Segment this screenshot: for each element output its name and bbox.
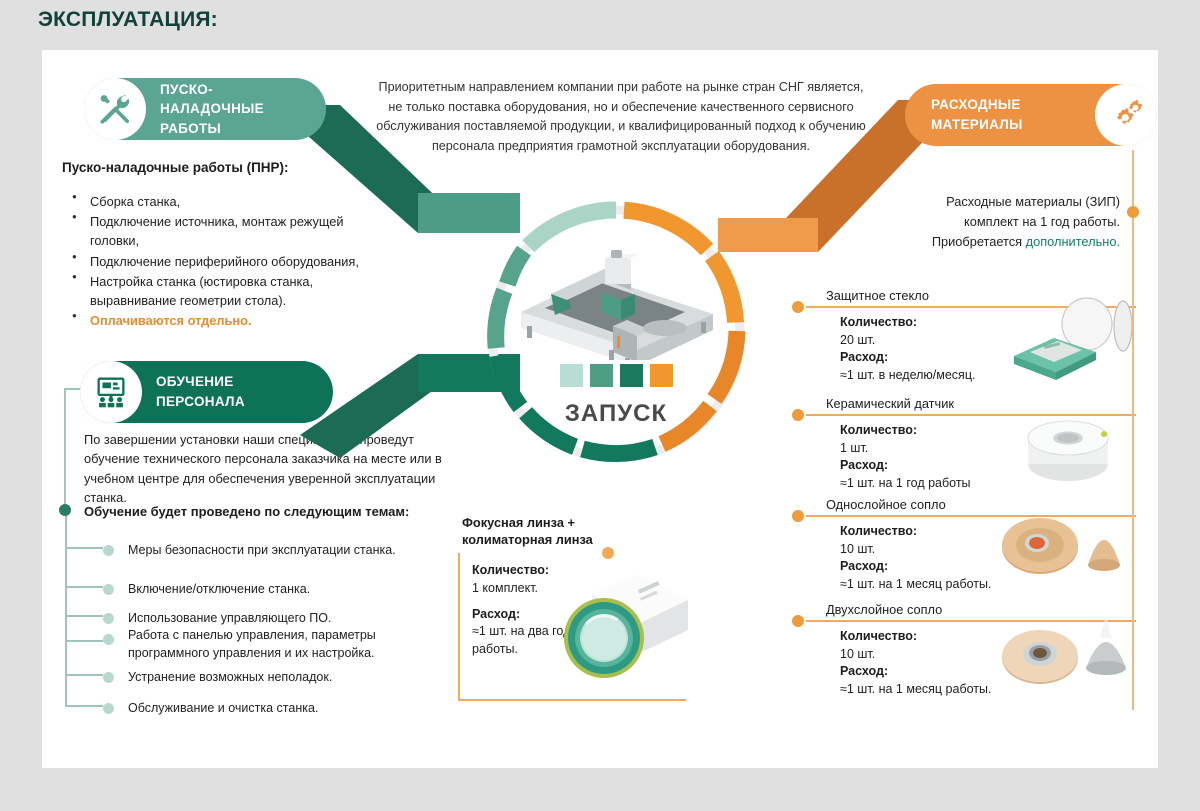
rate-value: ≈1 шт. в неделю/месяц. — [840, 368, 975, 382]
rate-value: ≈1 шт. на 1 месяц работы. — [840, 682, 991, 696]
rate-label: Расход: — [840, 458, 888, 472]
consumables-vertical-dot — [1127, 206, 1139, 218]
qty-value: 20 шт. — [840, 333, 875, 347]
topic-row: Устранение возможных неполадок. — [103, 668, 443, 686]
badge-training-label: ОБУЧЕНИЕ ПЕРСОНАЛА — [142, 372, 333, 411]
topic-label: Устранение возможных неполадок. — [128, 668, 332, 686]
lens-bullet-dot — [602, 547, 614, 559]
qty-value: 1 шт. — [840, 441, 868, 455]
topic-label: Меры безопасности при эксплуатации станк… — [128, 541, 396, 559]
qty-label: Количество: — [840, 524, 917, 538]
training-topics-heading: Обучение будет проведено по следующим те… — [84, 504, 409, 519]
consumables-vertical-line — [1132, 150, 1134, 710]
wrench-screwdriver-icon — [84, 78, 146, 140]
lens-title-line1: Фокусная линза + — [462, 515, 575, 530]
lens-title: Фокусная линза + колиматорная линза — [462, 514, 642, 549]
badge-consumables-label: РАСХОДНЫЕ МАТЕРИАЛЫ — [905, 95, 1095, 134]
qty-value: 10 шт. — [840, 647, 875, 661]
lens-qty-value: 1 комплект. — [472, 581, 538, 595]
consumable-item-double-nozzle: Двухслойное сопло Количество: 10 шт. Рас… — [806, 602, 1136, 698]
topics-branch — [65, 674, 103, 676]
badge-commissioning-label: ПУСКО-НАЛАДОЧНЫЕ РАБОТЫ — [146, 80, 326, 139]
topics-branch — [65, 705, 103, 707]
topic-dot — [103, 703, 114, 714]
lens-qty-label: Количество: — [472, 563, 549, 577]
topic-dot — [103, 672, 114, 683]
lens-rule-bottom — [458, 699, 686, 701]
consumable-bullet-dot — [792, 615, 804, 627]
rate-label: Расход: — [840, 664, 888, 678]
list-item-accent: Оплачиваются отдельно. — [68, 311, 368, 330]
qty-label: Количество: — [840, 423, 917, 437]
lens-title-line2: колиматорная линза — [462, 532, 593, 547]
rate-value: ≈1 шт. на 1 месяц работы. — [840, 577, 991, 591]
topic-label: Работа с панелью управления, параметры п… — [128, 626, 428, 662]
topic-dot — [103, 545, 114, 556]
training-connector-line — [64, 388, 66, 510]
gears-icon — [1095, 84, 1157, 146]
hub-label: ЗАПУСК — [480, 400, 752, 428]
list-item: Настройка станка (юстировка станка, выра… — [68, 272, 368, 310]
topic-label: Обслуживание и очистка станка. — [128, 699, 318, 717]
rate-label: Расход: — [840, 350, 888, 364]
topic-row: Обслуживание и очистка станка. — [103, 699, 443, 717]
topic-label: Использование управляющего ПО. — [128, 609, 332, 627]
topics-branch — [65, 547, 103, 549]
topic-dot — [103, 584, 114, 595]
lens-rate-label: Расход: — [472, 607, 520, 621]
hub-swatch-1 — [560, 364, 583, 387]
topics-branch — [65, 615, 103, 617]
topic-row: Использование управляющего ПО. — [103, 609, 443, 627]
consumables-intro-accent: дополнительно. — [1026, 234, 1120, 249]
single-layer-nozzle-image — [992, 505, 1132, 585]
consumable-item-single-nozzle: Однослойное сопло Количество: 10 шт. Рас… — [806, 497, 1136, 593]
consumables-intro-prefix: Приобретается — [932, 234, 1026, 249]
topics-trunk — [65, 516, 67, 705]
training-root-dot — [59, 504, 71, 516]
qty-label: Количество: — [840, 315, 917, 329]
laser-cutting-machine-icon — [505, 250, 725, 360]
topic-row: Включение/отключение станка. — [103, 580, 443, 598]
ceramic-sensor-image — [1006, 406, 1126, 492]
protective-glass-image — [992, 294, 1132, 384]
rate-value: ≈1 шт. на 1 год работы — [840, 476, 971, 490]
topic-label: Включение/отключение станка. — [128, 580, 310, 598]
badge-consumables[interactable]: РАСХОДНЫЕ МАТЕРИАЛЫ — [905, 84, 1157, 146]
qty-label: Количество: — [840, 629, 917, 643]
topic-dot — [103, 613, 114, 624]
focus-collimator-lens-image — [560, 560, 690, 685]
consumable-bullet-dot — [792, 510, 804, 522]
double-layer-nozzle-image — [992, 610, 1132, 692]
qty-value: 10 шт. — [840, 542, 875, 556]
hub-swatch-2 — [590, 364, 613, 387]
badge-training[interactable]: ОБУЧЕНИЕ ПЕРСОНАЛА — [80, 361, 333, 423]
list-item: Подключение периферийного оборудования, — [68, 252, 368, 271]
hub-swatch-row — [560, 364, 673, 387]
consumable-bullet-dot — [792, 409, 804, 421]
consumable-item-protective-glass: Защитное стекло Количество: 20 шт. Расхо… — [806, 288, 1136, 384]
commissioning-heading: Пуско-наладочные работы (ПНР): — [62, 160, 289, 175]
infographic-page: ЭКСПЛУАТАЦИЯ: ПУСКО-НАЛАДОЧНЫЕ РАБ — [0, 0, 1200, 811]
consumable-item-ceramic-sensor: Керамический датчик Количество: 1 шт. Ра… — [806, 396, 1136, 492]
topics-branch — [65, 640, 103, 642]
badge-commissioning[interactable]: ПУСКО-НАЛАДОЧНЫЕ РАБОТЫ — [84, 78, 326, 140]
topic-row: Работа с панелью управления, параметры п… — [103, 626, 443, 662]
hub-swatch-3 — [620, 364, 643, 387]
lens-rule-left — [458, 553, 460, 701]
training-presentation-icon — [80, 361, 142, 423]
rate-label: Расход: — [840, 559, 888, 573]
topic-dot — [103, 634, 114, 645]
page-title: ЭКСПЛУАТАЦИЯ: — [38, 8, 218, 32]
hub-swatch-4 — [650, 364, 673, 387]
consumable-bullet-dot — [792, 301, 804, 313]
topics-branch — [65, 586, 103, 588]
topic-row: Меры безопасности при эксплуатации станк… — [103, 541, 443, 559]
